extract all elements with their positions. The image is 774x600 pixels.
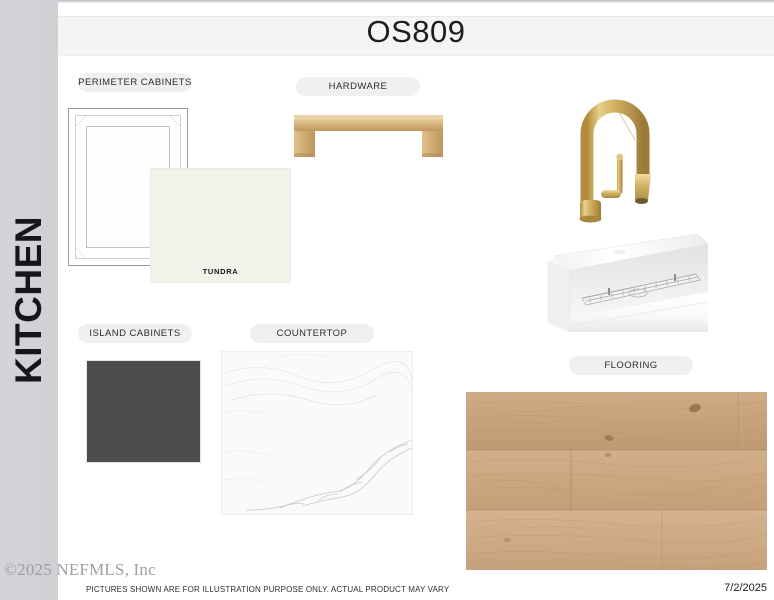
selection-board: KITCHEN OS809 PERIMETER CABINETS HARDWAR… bbox=[0, 0, 774, 600]
farmhouse-sink-icon bbox=[546, 222, 713, 340]
perimeter-cabinet-swatch bbox=[151, 169, 290, 282]
label-countertop: COUNTERTOP bbox=[250, 324, 374, 343]
flooring-swatch bbox=[466, 392, 767, 570]
mls-watermark: ©2025 NEFMLS, Inc bbox=[4, 560, 156, 580]
page-title: OS809 bbox=[58, 14, 774, 50]
room-sidebar: KITCHEN bbox=[0, 0, 58, 600]
room-label: KITCHEN bbox=[8, 216, 50, 384]
perimeter-cabinet-swatch-caption: TUNDRA bbox=[151, 267, 290, 276]
label-flooring: FLOORING bbox=[569, 356, 693, 375]
countertop-swatch bbox=[222, 352, 412, 514]
island-cabinet-swatch bbox=[87, 361, 200, 462]
label-perimeter-cabinets: PERIMETER CABINETS bbox=[78, 73, 192, 92]
top-divider bbox=[58, 0, 774, 3]
cabinet-pull-icon bbox=[291, 110, 446, 162]
label-hardware: HARDWARE bbox=[296, 77, 420, 96]
faucet-icon bbox=[565, 72, 670, 227]
label-island-cabinets: ISLAND CABINETS bbox=[78, 324, 192, 343]
footer-date: 7/2/2025 bbox=[724, 582, 767, 594]
disclaimer-text: PICTURES SHOWN ARE FOR ILLUSTRATION PURP… bbox=[86, 585, 449, 594]
